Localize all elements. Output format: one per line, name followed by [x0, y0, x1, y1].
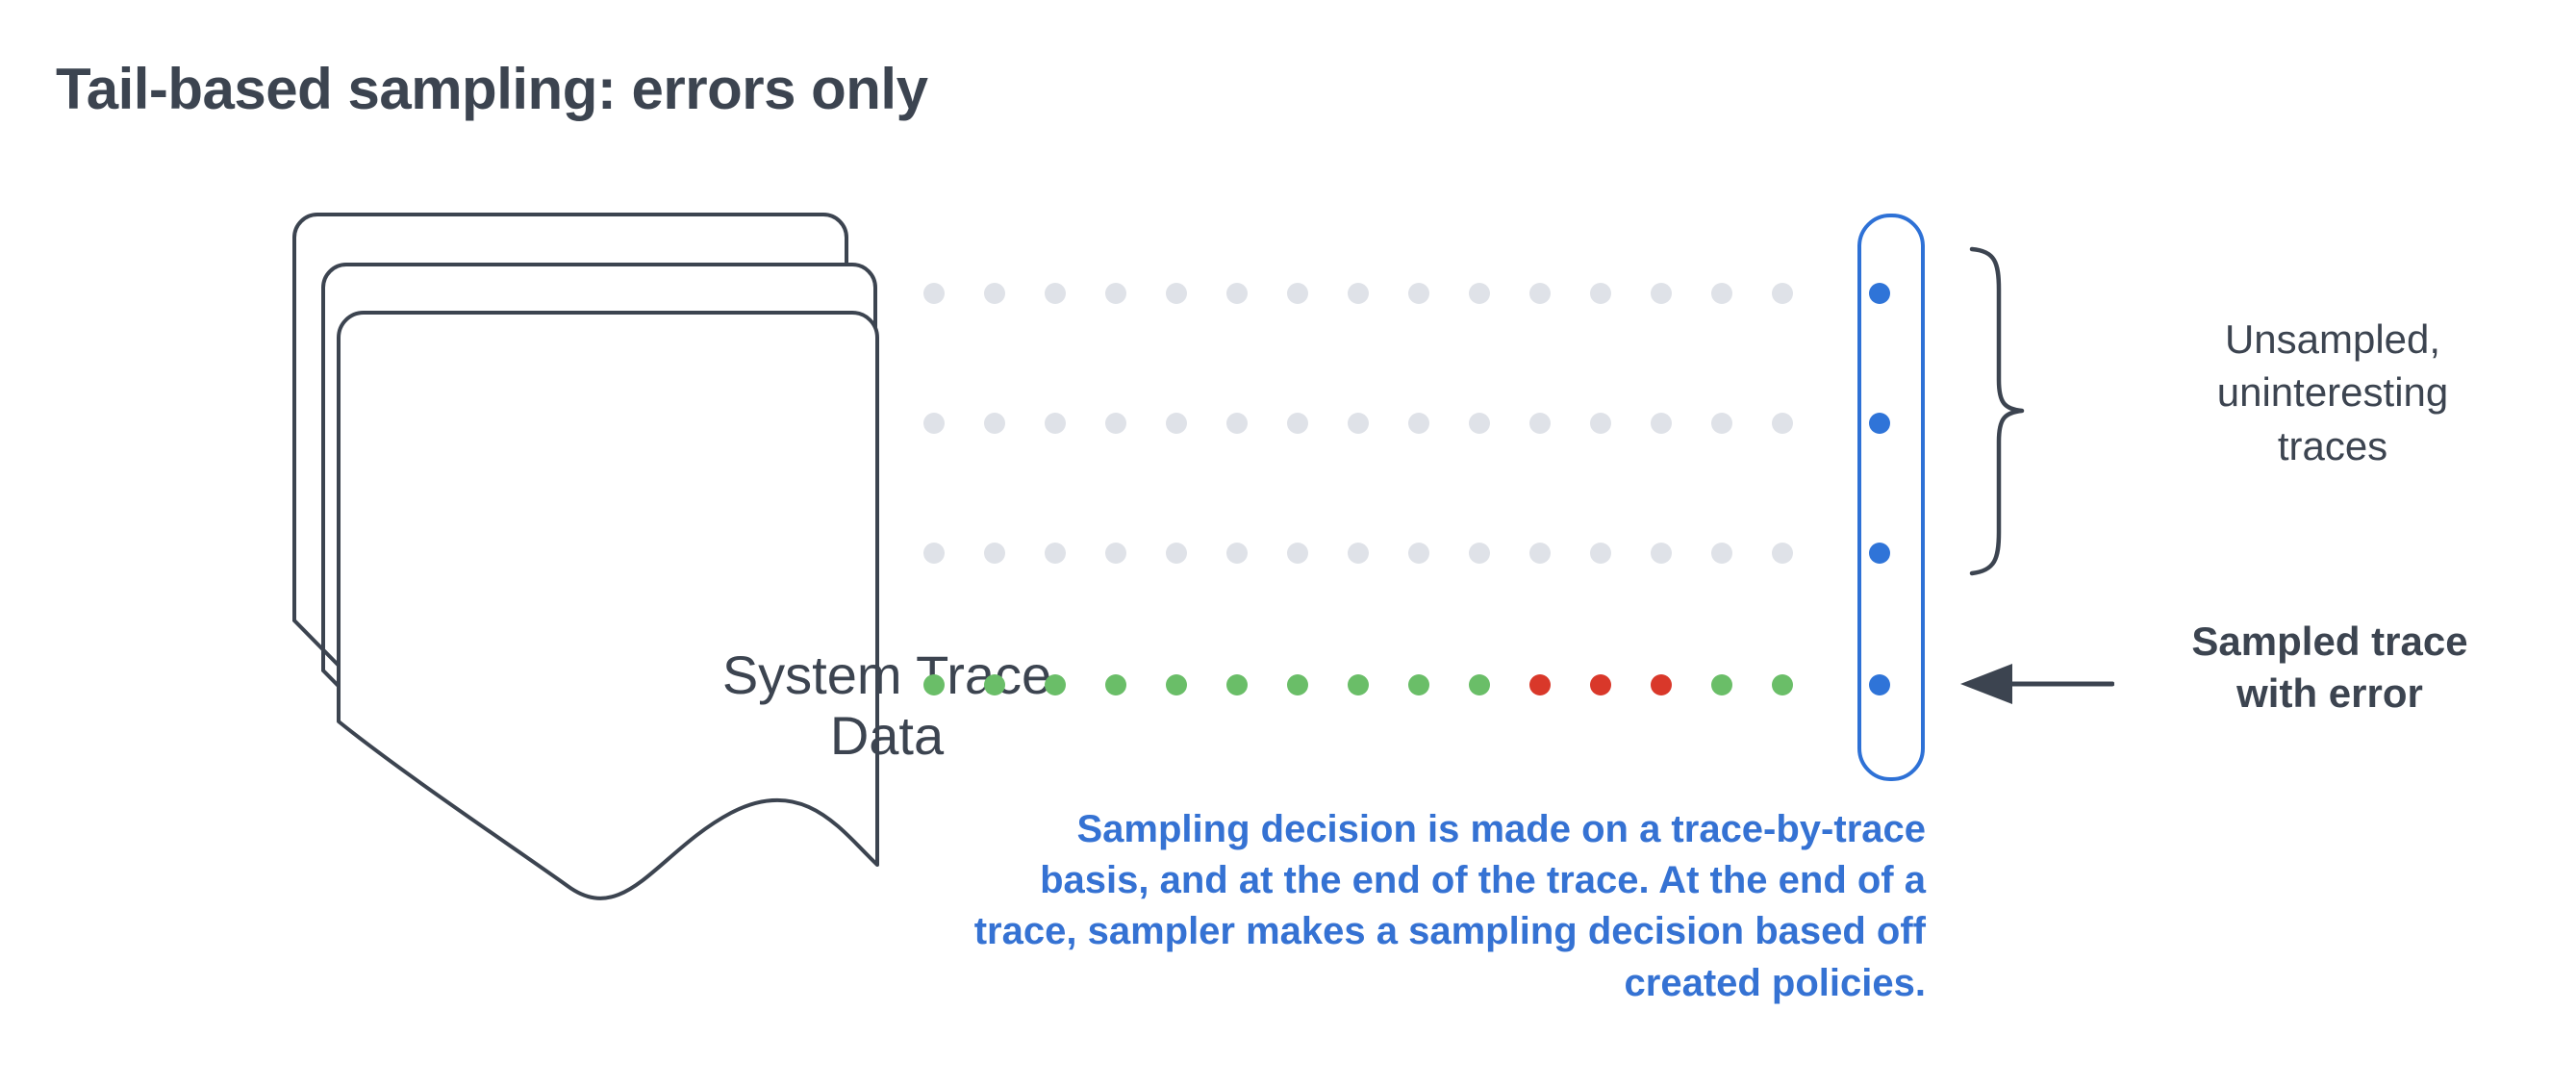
span-dot-gray [1408, 283, 1429, 304]
span-dot-gray [923, 543, 945, 564]
span-dot-gray [1408, 413, 1429, 434]
span-dot-red [1590, 674, 1611, 695]
curly-brace-shape [1960, 245, 2028, 577]
document-stack-icon: System Trace Data [279, 197, 904, 890]
span-dot-gray [1529, 283, 1551, 304]
span-dot-green [1226, 674, 1248, 695]
span-dot-green [1408, 674, 1429, 695]
trace-row-4 [923, 673, 1890, 696]
span-dot-green [1469, 674, 1490, 695]
span-dot-gray [1166, 543, 1187, 564]
span-dot-gray [1348, 543, 1369, 564]
span-dot-gray [1226, 543, 1248, 564]
span-dot-gray [1045, 283, 1066, 304]
span-dot-green [1287, 674, 1308, 695]
span-dot-gray [1287, 543, 1308, 564]
span-dot-gray [1772, 543, 1793, 564]
diagram-canvas: Tail-based sampling: errors only System … [0, 0, 2576, 1087]
span-dot-gray [1469, 283, 1490, 304]
span-dot-gray [1166, 413, 1187, 434]
span-dot-gray [984, 413, 1005, 434]
span-dot-gray [1105, 283, 1126, 304]
span-dot-gray [1348, 283, 1369, 304]
span-dot-red [1529, 674, 1551, 695]
left-arrow-shape [1960, 662, 2114, 706]
span-dot-gray [1590, 283, 1611, 304]
sampling-caption: Sampling decision is made on a trace-by-… [962, 804, 1926, 1009]
span-dot-gray [1348, 413, 1369, 434]
page-title: Tail-based sampling: errors only [56, 56, 927, 122]
span-dot-gray [1529, 543, 1551, 564]
span-dot-green [1045, 674, 1066, 695]
span-dot-gray [1651, 413, 1672, 434]
span-dot-gray [984, 543, 1005, 564]
span-dot-gray [1651, 283, 1672, 304]
span-dot-green [1166, 674, 1187, 695]
span-dot-green [984, 674, 1005, 695]
trace-row-2 [923, 412, 1890, 435]
document-stack-shape [279, 197, 904, 890]
span-dot-green [1105, 674, 1126, 695]
span-dot-green [1711, 674, 1732, 695]
span-dot-gray [984, 283, 1005, 304]
span-dot-green [923, 674, 945, 695]
span-dot-gray [1045, 543, 1066, 564]
trace-row-3 [923, 542, 1890, 565]
span-dot-gray [1105, 543, 1126, 564]
span-dot-gray [1590, 413, 1611, 434]
span-dot-gray [1226, 413, 1248, 434]
span-dot-gray [923, 283, 945, 304]
unsampled-traces-label: Unsampled, uninteresting traces [2155, 313, 2511, 472]
span-dot-gray [1469, 413, 1490, 434]
span-dot-gray [1772, 413, 1793, 434]
span-dot-gray [1529, 413, 1551, 434]
span-dot-gray [1287, 413, 1308, 434]
curly-brace-icon [1960, 245, 2028, 577]
span-dot-red [1651, 674, 1672, 695]
sampling-decision-gate [1857, 214, 1925, 781]
span-dot-gray [1651, 543, 1672, 564]
span-dot-gray [1772, 283, 1793, 304]
span-dot-green [1348, 674, 1369, 695]
span-dot-gray [923, 413, 945, 434]
span-dot-green [1772, 674, 1793, 695]
span-dot-gray [1287, 283, 1308, 304]
span-dot-gray [1590, 543, 1611, 564]
left-arrow-icon [1960, 662, 2114, 706]
span-dot-gray [1408, 543, 1429, 564]
span-dot-gray [1045, 413, 1066, 434]
span-dot-gray [1711, 543, 1732, 564]
span-dot-gray [1226, 283, 1248, 304]
span-dot-gray [1166, 283, 1187, 304]
sampled-trace-label: Sampled trace with error [2137, 616, 2522, 720]
trace-row-1 [923, 282, 1890, 305]
trace-rows [923, 274, 1943, 717]
span-dot-gray [1469, 543, 1490, 564]
span-dot-gray [1711, 283, 1732, 304]
span-dot-gray [1105, 413, 1126, 434]
span-dot-gray [1711, 413, 1732, 434]
